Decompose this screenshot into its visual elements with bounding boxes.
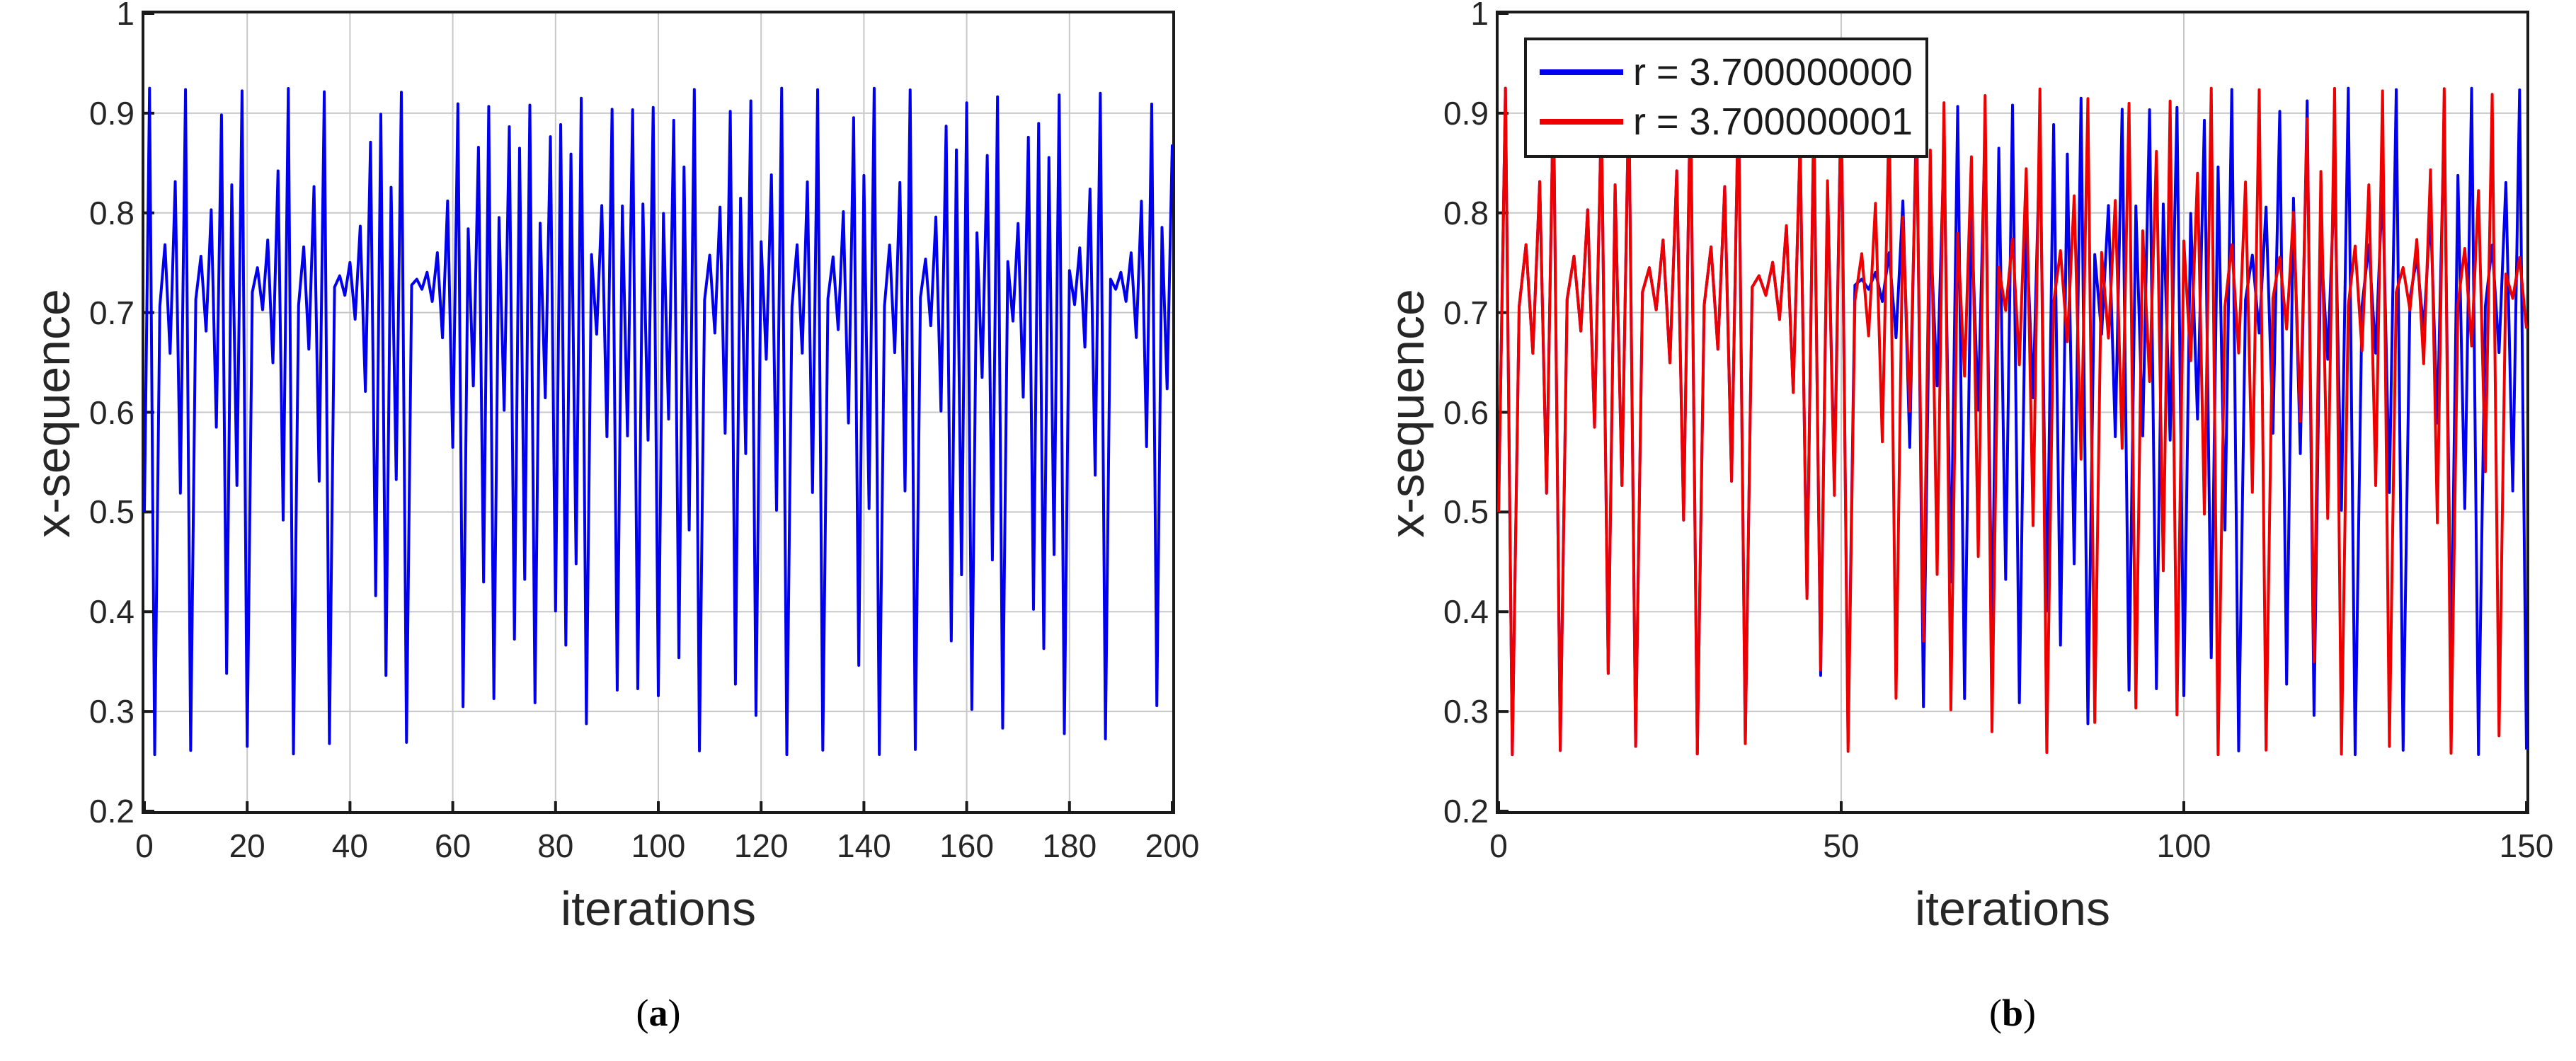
y-tick-label: 0.4 [71,592,134,631]
plot-area-a [142,11,1175,814]
y-tick-label: 0.8 [71,194,134,232]
x-axis-title-b: iterations [1915,881,2110,936]
x-tick-label: 180 [1042,827,1097,865]
legend-label-1: r = 3.700000001 [1633,103,1913,141]
legend-swatch-red [1540,119,1623,125]
y-tick-label: 0.9 [71,94,134,132]
legend-label-0: r = 3.700000000 [1633,53,1913,91]
plot-area-b: r = 3.700000000 r = 3.700000001 [1496,11,2529,814]
legend-item-0[interactable]: r = 3.700000000 [1540,47,1913,97]
x-tick-label: 0 [135,827,154,865]
figure-root: 0.20.30.40.50.60.70.80.91 02040608010012… [0,0,2576,1061]
panel-a: 0.20.30.40.50.60.70.80.91 02040608010012… [0,0,1288,1061]
x-tick-label: 140 [837,827,891,865]
y-tick-label: 0.3 [1425,692,1489,730]
x-tick-label: 0 [1489,827,1508,865]
subcaption-a-letter: a [649,992,668,1034]
y-tick-label: 0.3 [71,692,134,730]
subcaption-a-suffix: ) [668,992,681,1034]
x-tick-label: 20 [229,827,265,865]
y-tick-label: 1 [1425,0,1489,33]
x-tick-label: 100 [2157,827,2211,865]
x-tick-label: 50 [1823,827,1859,865]
subcaption-b: (b) [1989,991,2036,1035]
x-tick-label: 200 [1145,827,1200,865]
subcaption-b-letter: b [2002,992,2023,1034]
x-tick-label: 120 [734,827,789,865]
series-canvas-a [142,11,1175,814]
x-tick-label: 60 [435,827,471,865]
x-tick-label: 40 [332,827,368,865]
subcaption-a: (a) [636,991,681,1035]
subcaption-a-prefix: ( [636,992,649,1034]
subcaption-b-suffix: ) [2023,992,2036,1034]
panel-b: r = 3.700000000 r = 3.700000001 0.20.30.… [1288,0,2576,1061]
x-tick-label: 160 [939,827,994,865]
y-tick-label: 0.9 [1425,94,1489,132]
y-axis-title-a: x-sequence [25,272,81,555]
subcaption-b-prefix: ( [1989,992,2002,1034]
legend-b[interactable]: r = 3.700000000 r = 3.700000001 [1524,38,1928,158]
y-tick-label: 0.4 [1425,592,1489,631]
y-tick-label: 0.8 [1425,194,1489,232]
y-tick-label: 0.2 [1425,792,1489,830]
y-axis-title-b: x-sequence [1380,272,1435,555]
legend-swatch-blue [1540,69,1623,75]
x-axis-title-a: iterations [561,881,756,936]
legend-item-1[interactable]: r = 3.700000001 [1540,97,1913,147]
x-tick-label: 150 [2500,827,2554,865]
x-tick-label: 100 [631,827,686,865]
y-tick-label: 0.2 [71,792,134,830]
y-tick-label: 1 [71,0,134,33]
x-tick-label: 80 [537,827,573,865]
